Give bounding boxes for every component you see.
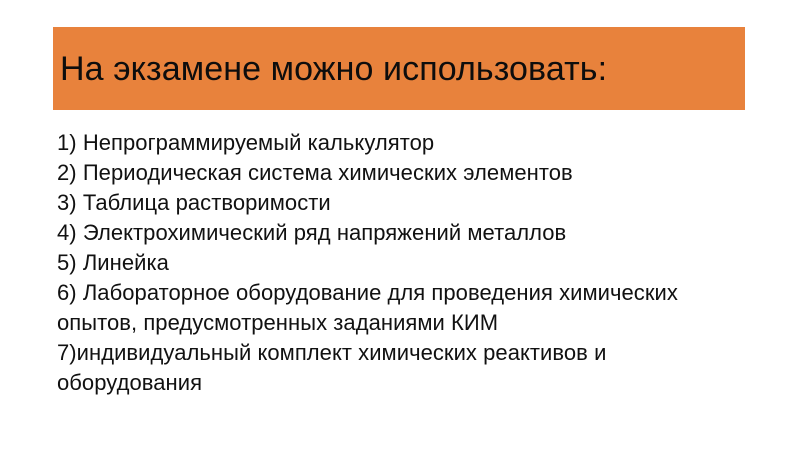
list-item: 3) Таблица растворимости xyxy=(57,188,735,218)
list-item: 2) Периодическая система химических элем… xyxy=(57,158,735,188)
slide-title: На экзамене можно использовать: xyxy=(60,50,607,88)
list-item: 4) Электрохимический ряд напряжений мета… xyxy=(57,218,735,248)
list-item: 7)индивидуальный комплект химических реа… xyxy=(57,338,735,398)
requirements-list: 1) Непрограммируемый калькулятор 2) Пери… xyxy=(57,128,735,398)
list-item: 6) Лабораторное оборудование для проведе… xyxy=(57,278,735,338)
title-banner: На экзамене можно использовать: xyxy=(53,27,745,110)
slide-canvas: На экзамене можно использовать: 1) Непро… xyxy=(0,0,800,450)
list-item: 5) Линейка xyxy=(57,248,735,278)
list-item: 1) Непрограммируемый калькулятор xyxy=(57,128,735,158)
